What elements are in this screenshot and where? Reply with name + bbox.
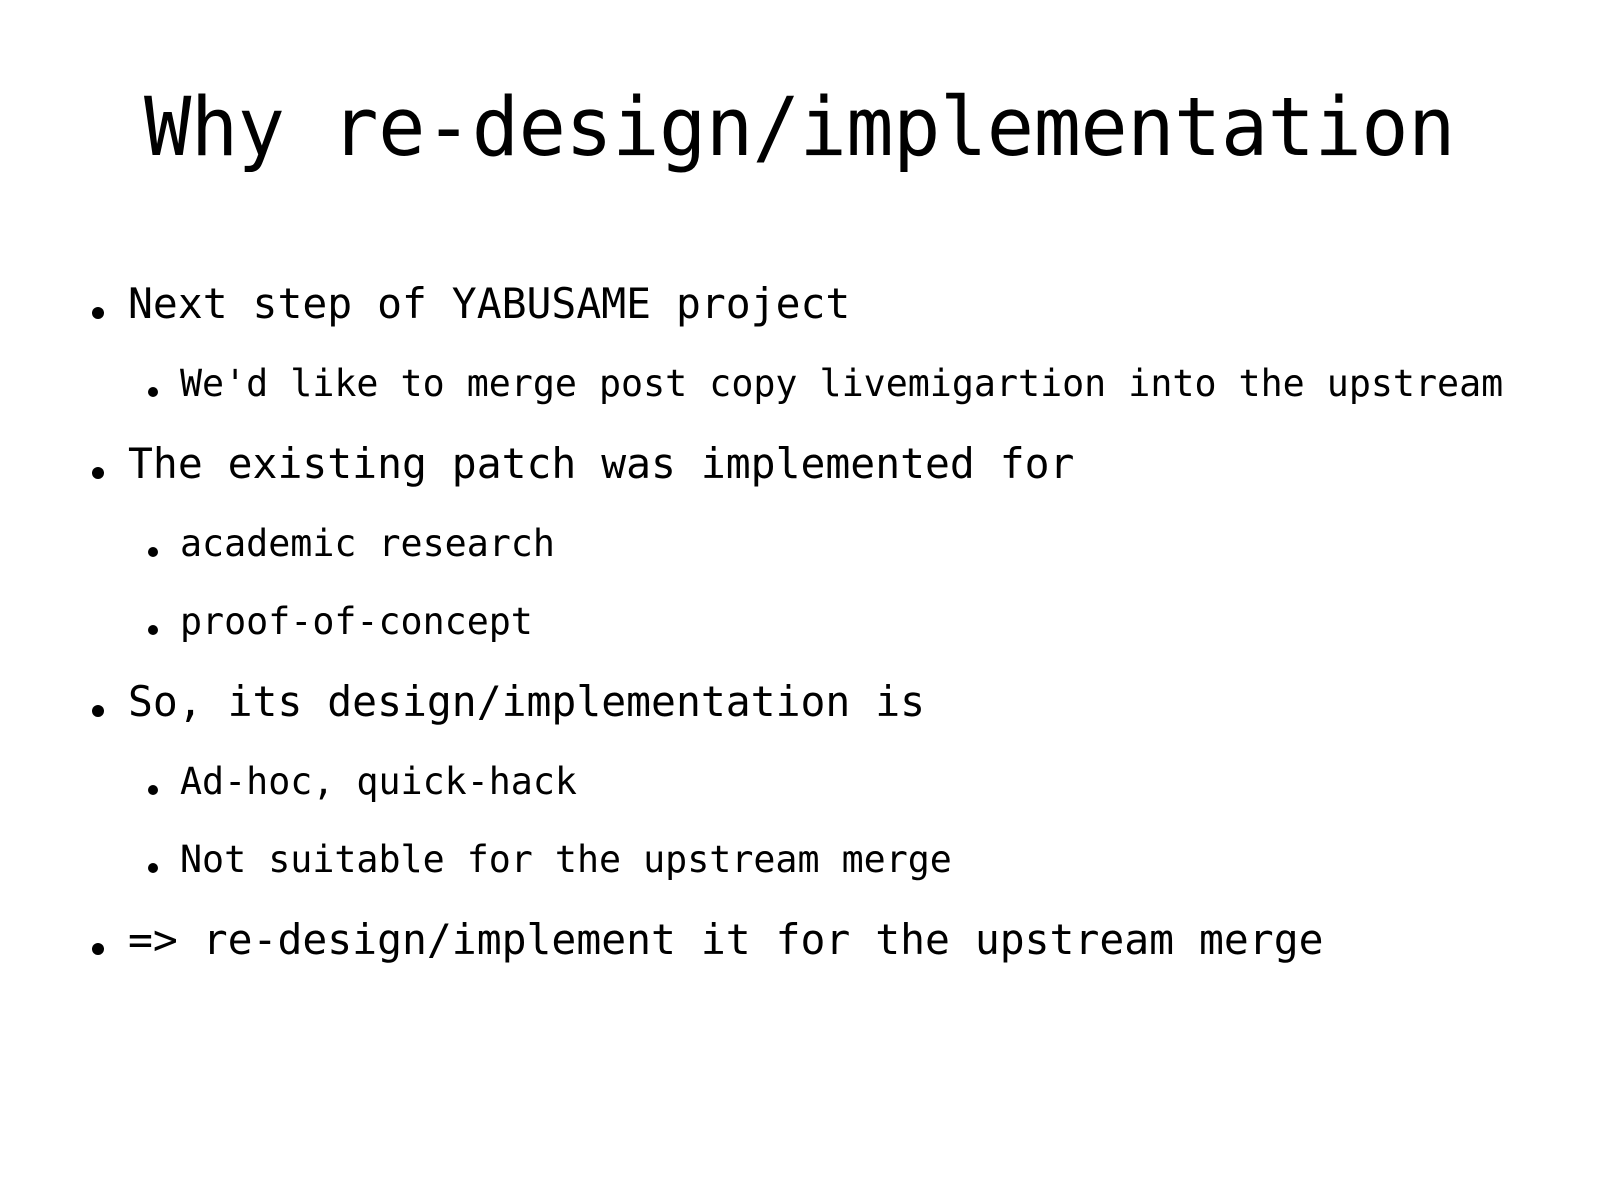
list-item-label: The existing patch was implemented for bbox=[128, 432, 1074, 496]
bullet-dot-icon bbox=[148, 387, 158, 397]
list-item-label: => re-design/implement it for the upstre… bbox=[128, 908, 1324, 972]
list-item-label: proof-of-concept bbox=[180, 592, 533, 652]
list-item: Ad-hoc, quick-hack bbox=[0, 752, 1599, 830]
page-title: Why re-design/implementation bbox=[24, 88, 1575, 169]
presentation-slide: Why re-design/implementation Next step o… bbox=[0, 0, 1599, 1199]
list-item-label: Ad-hoc, quick-hack bbox=[180, 752, 577, 812]
bullet-dot-icon bbox=[92, 467, 104, 479]
list-item-label: So, its design/implementation is bbox=[128, 670, 925, 734]
list-item-label: Not suitable for the upstream merge bbox=[180, 830, 952, 890]
bullet-dot-icon bbox=[92, 307, 104, 319]
bullet-dot-icon bbox=[92, 705, 104, 717]
list-item-label: academic research bbox=[180, 514, 555, 574]
list-item: Next step of YABUSAME project bbox=[0, 272, 1599, 354]
bullet-list: Next step of YABUSAME project We'd like … bbox=[0, 272, 1599, 990]
list-item: The existing patch was implemented for bbox=[0, 432, 1599, 514]
list-item: We'd like to merge post copy livemigarti… bbox=[0, 354, 1599, 432]
bullet-dot-icon bbox=[148, 785, 158, 795]
bullet-dot-icon bbox=[148, 863, 158, 873]
list-item: proof-of-concept bbox=[0, 592, 1599, 670]
bullet-dot-icon bbox=[148, 547, 158, 557]
list-item-label: We'd like to merge post copy livemigarti… bbox=[180, 354, 1503, 414]
list-item: academic research bbox=[0, 514, 1599, 592]
list-item: => re-design/implement it for the upstre… bbox=[0, 908, 1599, 990]
bullet-dot-icon bbox=[148, 625, 158, 635]
list-item: Not suitable for the upstream merge bbox=[0, 830, 1599, 908]
list-item: So, its design/implementation is bbox=[0, 670, 1599, 752]
bullet-dot-icon bbox=[92, 943, 104, 955]
list-item-label: Next step of YABUSAME project bbox=[128, 272, 850, 336]
